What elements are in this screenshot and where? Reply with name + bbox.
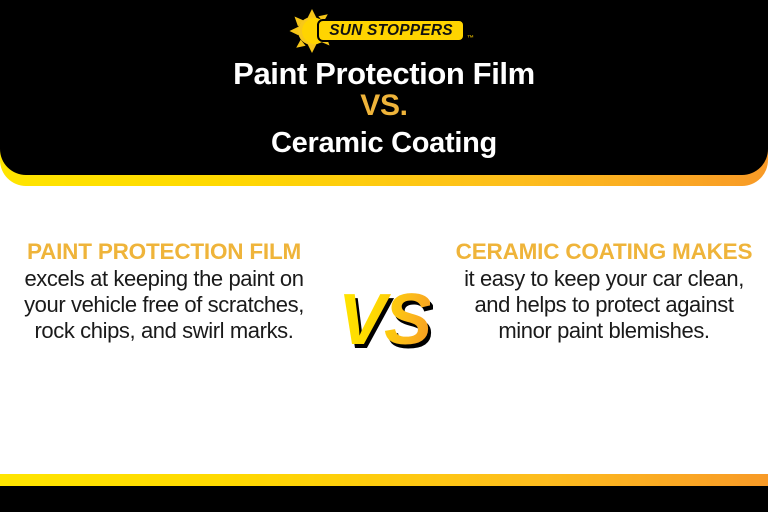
logo-wordmark-banner: SUN STOPPERS [317,19,465,42]
page-title-secondary: Ceramic Coating [0,128,768,158]
logo-wordmark-text: SUN STOPPERS [329,23,453,39]
footer-black-bar [0,486,768,512]
right-column-body: it easy to keep your car clean, and help… [454,266,754,344]
brand-logo[interactable]: SUN STOPPERS ™ [289,8,479,54]
versus-badge-text: VS [338,284,430,356]
trademark-symbol: ™ [467,35,474,42]
left-column-heading: PAINT PROTECTION FILM [14,240,314,264]
page-title-versus: VS. [0,90,768,122]
page-title-primary: Paint Protection Film [0,58,768,91]
header-black-panel: SUN STOPPERS ™ Paint Protection Film VS.… [0,0,768,175]
comparison-column-left: PAINT PROTECTION FILM excels at keeping … [14,240,314,344]
left-column-body: excels at keeping the paint on your vehi… [14,266,314,344]
poster-canvas: SUN STOPPERS ™ Paint Protection Film VS.… [0,0,768,512]
versus-badge: VS [310,282,458,358]
footer-gradient-stripe [0,474,768,486]
comparison-column-right: CERAMIC COATING MAKES it easy to keep yo… [454,240,754,344]
header-section: SUN STOPPERS ™ Paint Protection Film VS.… [0,0,768,187]
right-column-heading: CERAMIC COATING MAKES [454,240,754,264]
